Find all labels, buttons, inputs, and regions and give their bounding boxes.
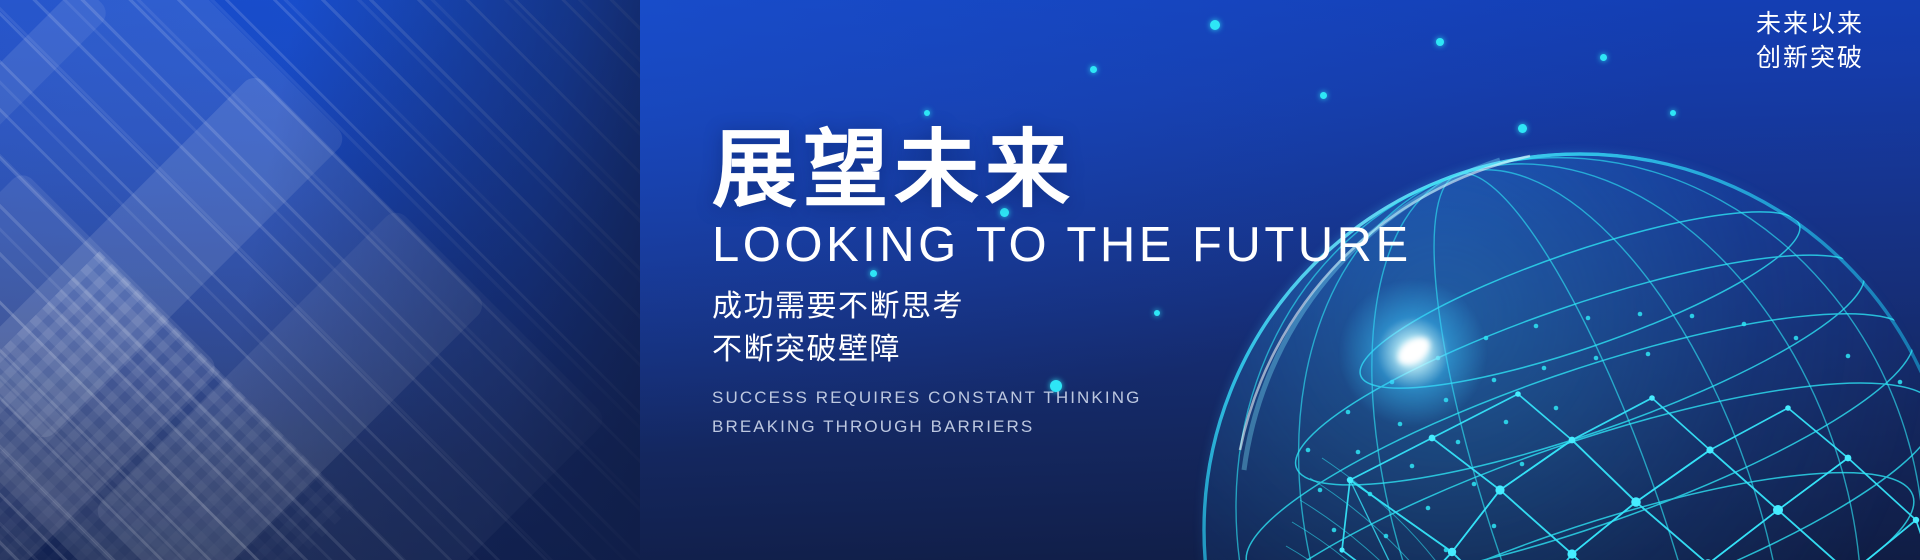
subheadline-english-line1: SUCCESS REQUIRES CONSTANT THINKING (712, 383, 1412, 412)
headline-english: LOOKING TO THE FUTURE (712, 219, 1412, 272)
corner-slogan-line1: 未来以来 (1756, 8, 1864, 42)
particle-dot (1210, 20, 1220, 30)
subheadline-chinese: 成功需要不断思考 不断突破壁障 (712, 286, 1412, 371)
promo-banner: 未来以来 创新突破 展望未来 LOOKING TO THE FUTURE 成功需… (0, 0, 1920, 560)
particle-dot (1600, 54, 1607, 61)
subheadline-english-line2: BREAKING THROUGH BARRIERS (712, 412, 1412, 441)
headline-block: 展望未来 LOOKING TO THE FUTURE 成功需要不断思考 不断突破… (712, 128, 1412, 442)
corner-slogan: 未来以来 创新突破 (1756, 8, 1864, 75)
corner-slogan-line2: 创新突破 (1756, 42, 1864, 76)
particle-dot (924, 110, 930, 116)
particle-dot (1090, 66, 1097, 73)
headline-chinese: 展望未来 (712, 128, 1412, 213)
subheadline-english: SUCCESS REQUIRES CONSTANT THINKING BREAK… (712, 383, 1412, 441)
particle-dot (1518, 124, 1527, 133)
left-geometric-decoration (0, 0, 640, 560)
left-fade-overlay (0, 0, 640, 560)
subheadline-chinese-line1: 成功需要不断思考 (712, 286, 1412, 329)
particle-dot (1320, 92, 1327, 99)
particle-dot (1670, 110, 1676, 116)
subheadline-chinese-line2: 不断突破壁障 (712, 329, 1412, 372)
particle-dot (1436, 38, 1444, 46)
